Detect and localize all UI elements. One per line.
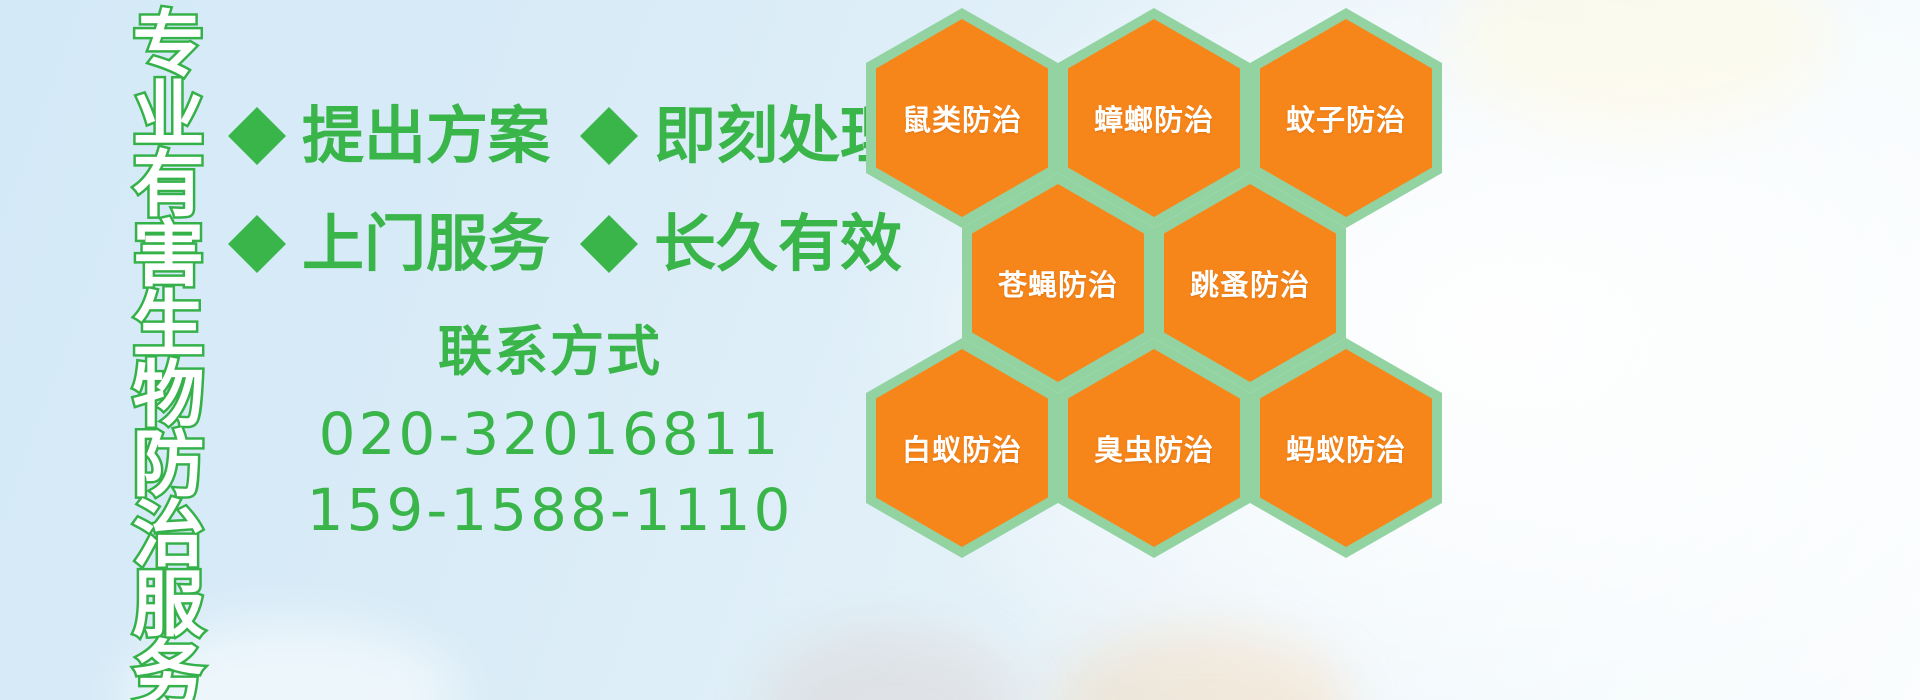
feature-row: 上门服务 长久有效 xyxy=(228,190,868,298)
feature-label: 即刻处理 xyxy=(654,105,902,167)
diamond-icon xyxy=(580,78,638,136)
service-hex-label: 臭虫防治 xyxy=(1094,427,1214,469)
feature-list: 提出方案 即刻处理 上门服务 长久有效 xyxy=(228,82,868,298)
feature-item-propose-plan: 提出方案 xyxy=(228,105,550,167)
vertical-headline: 专业有害生物防治服务 xyxy=(104,6,200,700)
feature-label: 上门服务 xyxy=(302,213,550,275)
phone-landline[interactable]: 020-32016811 xyxy=(300,396,800,473)
service-hex-grid: 鼠类防治 蟑螂防治 蚊子防治 苍蝇防治 跳蚤防治 白蚁防治 xyxy=(866,8,1446,568)
service-hex-label: 蟑螂防治 xyxy=(1094,97,1214,139)
service-hex-bedbug[interactable]: 臭虫防治 xyxy=(1058,338,1250,558)
contact-block: 联系方式 020-32016811 159-1588-1110 xyxy=(300,318,800,549)
background-blob-top-right xyxy=(1450,0,1830,130)
diamond-icon xyxy=(228,78,286,136)
service-hex-label: 蚊子防治 xyxy=(1286,97,1406,139)
service-hex-label: 蚂蚁防治 xyxy=(1286,427,1406,469)
feature-item-long-lasting: 长久有效 xyxy=(580,213,902,275)
service-hex-label: 白蚁防治 xyxy=(902,427,1022,469)
diamond-icon xyxy=(228,186,286,244)
service-hex-label: 苍蝇防治 xyxy=(998,262,1118,304)
service-hex-termite[interactable]: 白蚁防治 xyxy=(866,338,1058,558)
service-hex-label: 鼠类防治 xyxy=(902,97,1022,139)
phone-mobile[interactable]: 159-1588-1110 xyxy=(300,472,800,549)
contact-title: 联系方式 xyxy=(300,318,800,386)
service-hex-ant[interactable]: 蚂蚁防治 xyxy=(1250,338,1442,558)
service-hex-label: 跳蚤防治 xyxy=(1190,262,1310,304)
feature-item-onsite-service: 上门服务 xyxy=(228,213,550,275)
feature-label: 提出方案 xyxy=(302,105,550,167)
promo-banner: 专业有害生物防治服务 提出方案 即刻处理 上门服务 长久有效 联 xyxy=(0,0,1920,700)
diamond-icon xyxy=(580,186,638,244)
background-blob-orange xyxy=(1050,630,1350,700)
background-blob-center xyxy=(760,630,1020,700)
feature-item-immediate-handling: 即刻处理 xyxy=(580,105,902,167)
feature-label: 长久有效 xyxy=(654,213,902,275)
feature-row: 提出方案 即刻处理 xyxy=(228,82,868,190)
